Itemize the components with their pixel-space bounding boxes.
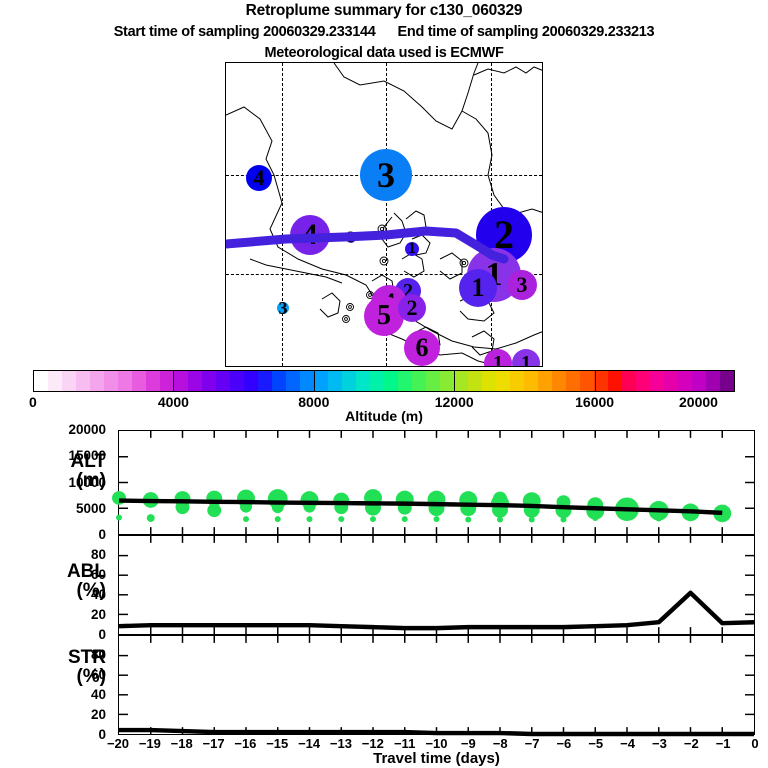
colorbar-swatch bbox=[104, 371, 118, 391]
colorbar-swatch bbox=[552, 371, 566, 391]
x-tick-label: −14 bbox=[292, 736, 326, 751]
alt-scatter-point bbox=[147, 514, 155, 522]
colorbar-swatch bbox=[412, 371, 426, 391]
trajectory-line bbox=[226, 63, 543, 367]
x-tick-label: −16 bbox=[228, 736, 262, 751]
colorbar-swatch bbox=[132, 371, 146, 391]
colorbar-tick bbox=[454, 370, 455, 392]
colorbar-swatch bbox=[286, 371, 300, 391]
colorbar-swatch bbox=[440, 371, 454, 391]
alt-scatter-point bbox=[243, 516, 249, 522]
y-tick-label: 0 bbox=[98, 627, 106, 642]
alt-scatter-point bbox=[592, 515, 598, 521]
colorbar-swatch bbox=[202, 371, 216, 391]
y-tick-label: 20 bbox=[91, 607, 106, 622]
altitude-colorbar[interactable] bbox=[33, 370, 735, 392]
y-tick-label: 80 bbox=[91, 647, 106, 662]
colorbar-swatch bbox=[146, 371, 160, 391]
colorbar-swatch bbox=[454, 371, 468, 391]
colorbar-swatch bbox=[692, 371, 706, 391]
x-tick-label: −12 bbox=[356, 736, 390, 751]
x-tick-label: −1 bbox=[706, 736, 740, 751]
colorbar-swatch bbox=[650, 371, 664, 391]
retroplume-map[interactable]: 43421132452633111 bbox=[225, 62, 543, 367]
colorbar-swatch bbox=[258, 371, 272, 391]
colorbar-swatch bbox=[244, 371, 258, 391]
y-tick-label: 60 bbox=[91, 567, 106, 582]
x-tick-label: −2 bbox=[674, 736, 708, 751]
x-tick-label: −7 bbox=[515, 736, 549, 751]
alt-scatter-point bbox=[623, 512, 631, 520]
colorbar-swatch bbox=[384, 371, 398, 391]
alt-scatter-point bbox=[529, 517, 535, 523]
colorbar-swatch bbox=[664, 371, 678, 391]
colorbar-swatch bbox=[272, 371, 286, 391]
x-tick-label: −17 bbox=[197, 736, 231, 751]
colorbar-swatch bbox=[398, 371, 412, 391]
colorbar-swatch bbox=[608, 371, 622, 391]
y-tick-label: 60 bbox=[91, 667, 106, 682]
colorbar-swatch bbox=[216, 371, 230, 391]
colorbar-swatch bbox=[468, 371, 482, 391]
x-tick-label: 0 bbox=[738, 736, 768, 751]
colorbar-swatch bbox=[566, 371, 580, 391]
colorbar-swatch bbox=[720, 371, 734, 391]
colorbar-swatch bbox=[300, 371, 314, 391]
colorbar-swatch bbox=[370, 371, 384, 391]
page-title: Retroplume summary for c130_060329 bbox=[0, 2, 768, 20]
y-tick-label: 80 bbox=[91, 547, 106, 562]
colorbar-tick bbox=[173, 370, 174, 392]
colorbar-tick bbox=[314, 370, 315, 392]
alt-scatter-point bbox=[207, 503, 221, 517]
colorbar-swatch bbox=[678, 371, 692, 391]
x-tick-label: −20 bbox=[101, 736, 135, 751]
end-time-text: End time of sampling 20060329.233213 bbox=[398, 24, 655, 40]
y-tick-label: 10000 bbox=[68, 475, 106, 490]
colorbar-swatch bbox=[62, 371, 76, 391]
alt-scatter-point bbox=[434, 516, 440, 522]
colorbar-tick bbox=[595, 370, 596, 392]
meteorology-source-text: Meteorological data used is ECMWF bbox=[0, 45, 768, 61]
str-plot-panel[interactable] bbox=[118, 635, 755, 735]
y-tick-label: 40 bbox=[91, 687, 106, 702]
x-tick-label: −4 bbox=[611, 736, 645, 751]
colorbar-swatch bbox=[706, 371, 720, 391]
colorbar-swatch bbox=[594, 371, 608, 391]
x-tick-label: −13 bbox=[324, 736, 358, 751]
abl-series-line bbox=[119, 593, 754, 628]
colorbar-swatch bbox=[636, 371, 650, 391]
colorbar-swatch bbox=[580, 371, 594, 391]
colorbar-title: Altitude (m) bbox=[0, 408, 768, 424]
alt-scatter-point bbox=[116, 515, 122, 521]
y-tick-label: 40 bbox=[91, 587, 106, 602]
alt-scatter-point bbox=[338, 516, 344, 522]
colorbar-swatch bbox=[314, 371, 328, 391]
colorbar-swatch bbox=[160, 371, 174, 391]
abl-plot-panel[interactable] bbox=[118, 535, 755, 635]
colorbar-swatch bbox=[426, 371, 440, 391]
x-tick-label: −5 bbox=[579, 736, 613, 751]
y-tick-label: 20000 bbox=[68, 422, 106, 437]
alt-scatter-point bbox=[307, 516, 313, 522]
colorbar-swatch bbox=[342, 371, 356, 391]
x-tick-label: −18 bbox=[165, 736, 199, 751]
colorbar-swatch bbox=[230, 371, 244, 391]
alt-scatter-point bbox=[465, 517, 471, 523]
colorbar-swatch bbox=[538, 371, 552, 391]
y-tick-label: 15000 bbox=[68, 448, 106, 463]
x-tick-label: −11 bbox=[388, 736, 422, 751]
alt-scatter-point bbox=[275, 516, 281, 522]
y-tick-label: 20 bbox=[91, 707, 106, 722]
colorbar-swatch bbox=[90, 371, 104, 391]
colorbar-swatch bbox=[76, 371, 90, 391]
alt-scatter-point bbox=[656, 516, 662, 522]
colorbar-swatch bbox=[510, 371, 524, 391]
colorbar-swatch bbox=[34, 371, 48, 391]
alt-scatter-point bbox=[402, 516, 408, 522]
y-tick-label: 0 bbox=[98, 527, 106, 542]
alt-scatter-point bbox=[370, 516, 376, 522]
x-tick-label: −8 bbox=[483, 736, 517, 751]
sampling-time-line: Start time of sampling 20060329.233144En… bbox=[0, 24, 768, 40]
colorbar-swatch bbox=[482, 371, 496, 391]
colorbar-swatch bbox=[328, 371, 342, 391]
x-tick-label: −9 bbox=[451, 736, 485, 751]
colorbar-swatch bbox=[174, 371, 188, 391]
x-tick-label: −10 bbox=[420, 736, 454, 751]
x-tick-label: −6 bbox=[547, 736, 581, 751]
alt-scatter-point bbox=[561, 517, 567, 523]
x-tick-label: −3 bbox=[642, 736, 676, 751]
colorbar-swatch bbox=[188, 371, 202, 391]
alt-scatter-point bbox=[497, 517, 503, 523]
x-tick-label: −19 bbox=[133, 736, 167, 751]
colorbar-swatch bbox=[622, 371, 636, 391]
y-tick-label: 5000 bbox=[76, 501, 106, 516]
colorbar-swatch bbox=[496, 371, 510, 391]
colorbar-swatch bbox=[524, 371, 538, 391]
start-time-text: Start time of sampling 20060329.233144 bbox=[114, 24, 376, 40]
x-axis-label: Travel time (days) bbox=[118, 750, 755, 767]
x-tick-label: −15 bbox=[260, 736, 294, 751]
colorbar-swatch bbox=[118, 371, 132, 391]
colorbar-swatch bbox=[48, 371, 62, 391]
alt-plot-panel[interactable] bbox=[118, 430, 755, 535]
colorbar-swatch bbox=[356, 371, 370, 391]
